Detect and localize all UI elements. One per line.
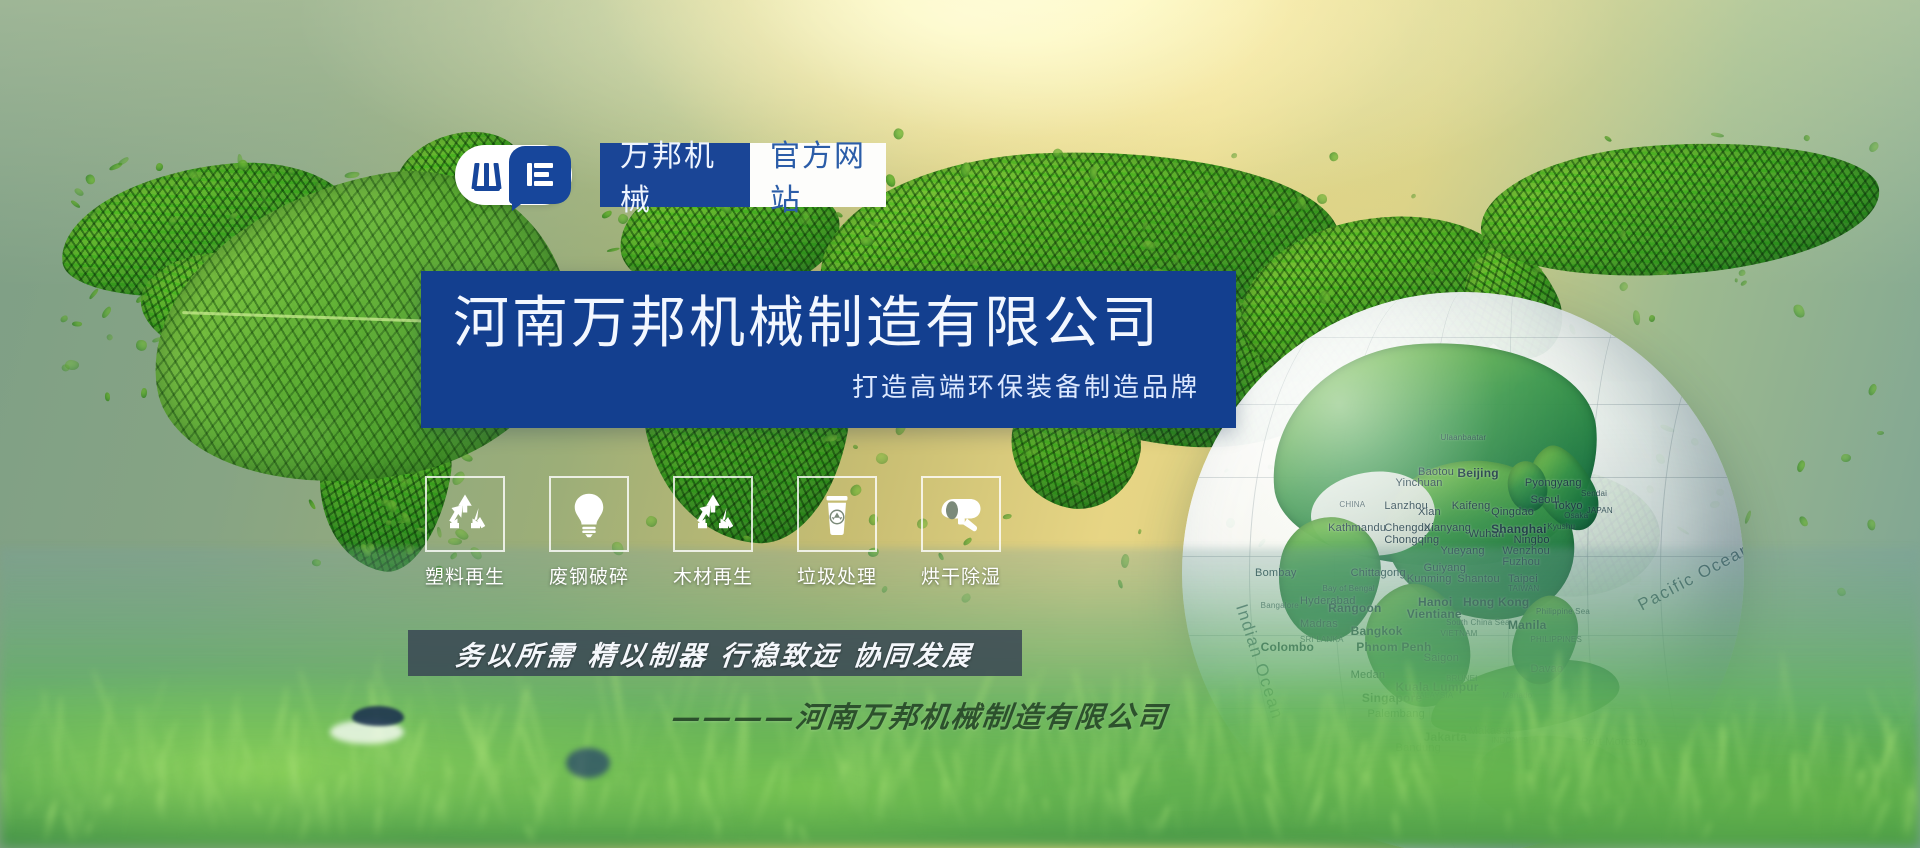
globe-city-label: Kathmandu (1328, 522, 1386, 534)
feature-item-4[interactable]: 垃圾处理 (792, 476, 882, 589)
globe-city-label: Beijing (1457, 466, 1498, 480)
globe-city-label: Kyushu (1547, 522, 1575, 531)
letter-w-icon (473, 161, 503, 189)
globe-city-label: Pyongyang (1525, 477, 1582, 489)
globe-city-label: Qingdao (1491, 506, 1534, 518)
slogan-attribution: ————河南万邦机械制造有限公司 (669, 694, 1170, 736)
feature-item-1[interactable]: 塑料再生 (420, 476, 510, 589)
page-tagline: 打造高端环保装备制造品牌 (421, 367, 1236, 404)
feature-item-2[interactable]: 废钢破碎 (544, 476, 634, 589)
letter-b-speech-bubble-icon (509, 146, 571, 204)
globe-city-label: Ningbo (1514, 534, 1550, 546)
wanbang-wb-logo[interactable] (455, 145, 572, 205)
blower-dryer-icon (921, 476, 1001, 552)
feature-label: 废钢破碎 (549, 562, 629, 589)
globe-city-label: Yinchuan (1396, 477, 1443, 489)
feature-label: 烘干除湿 (921, 562, 1001, 589)
feature-label: 垃圾处理 (797, 562, 877, 589)
globe-city-label: Kaifeng (1452, 500, 1491, 512)
lightbulb-icon (549, 476, 629, 552)
feature-icon-row: 塑料再生废钢破碎木材再生垃圾处理烘干除湿 (420, 476, 1006, 589)
feature-label: 木材再生 (673, 562, 753, 589)
globe-city-label: Ulaanbaatar (1441, 433, 1487, 442)
tab-brand[interactable]: 万邦机械 (600, 143, 750, 207)
globe-city-label: Sendai (1581, 489, 1607, 498)
tab-official-site[interactable]: 官方网站 (750, 143, 886, 207)
company-title-panel: 河南万邦机械制造有限公司 打造高端环保装备制造品牌 (421, 271, 1236, 428)
trash-bin-icon (797, 476, 877, 552)
feature-label: 塑料再生 (425, 562, 505, 589)
globe-city-label: Xianyang (1424, 522, 1471, 534)
globe-city-label: JAPAN (1587, 506, 1613, 515)
recycle-icon (673, 476, 753, 552)
recycle-icon (425, 476, 505, 552)
hero-banner: UlaanbaatarBeijingBaotouYinchuanLanzhouX… (0, 0, 1920, 848)
globe-city-label: Chongqing (1384, 534, 1439, 546)
site-header: 万邦机械 官方网站 (455, 143, 886, 207)
brand-tabs: 万邦机械 官方网站 (600, 143, 886, 207)
feature-item-5[interactable]: 烘干除湿 (916, 476, 1006, 589)
feature-item-3[interactable]: 木材再生 (668, 476, 758, 589)
globe-city-label: Osaka (1564, 511, 1588, 520)
slogan-bar: 务以所需 精以制器 行稳致远 协同发展 (408, 630, 1022, 676)
page-title: 河南万邦机械制造有限公司 (421, 295, 1236, 354)
globe-city-label: CHINA (1339, 500, 1365, 509)
globe-city-label: Xian (1418, 506, 1441, 518)
slogan-text: 务以所需 精以制器 行稳致远 协同发展 (454, 634, 975, 673)
